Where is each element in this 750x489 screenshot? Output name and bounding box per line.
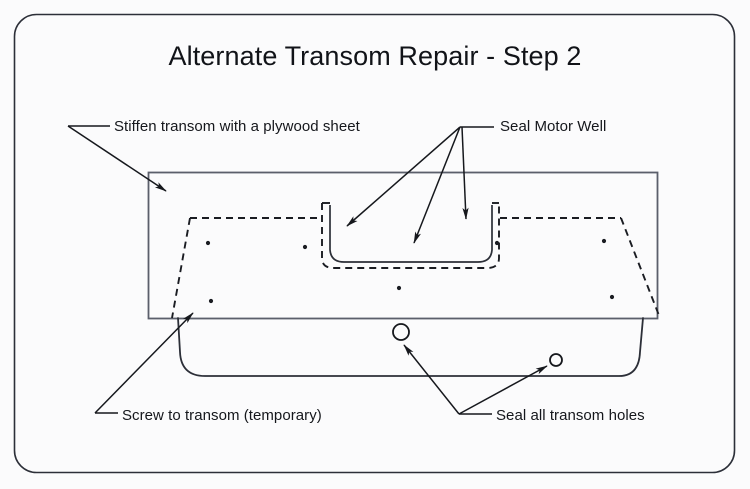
screw-dot (397, 286, 401, 290)
screw-dot (610, 295, 614, 299)
page-title: Alternate Transom Repair - Step 2 (0, 41, 750, 72)
screw-dot (303, 245, 307, 249)
callout-label-holes: Seal all transom holes (496, 407, 645, 424)
screw-dot (602, 239, 606, 243)
screw-dot (209, 299, 213, 303)
callout-label-stiffen: Stiffen transom with a plywood sheet (114, 118, 360, 135)
callout-label-screw: Screw to transom (temporary) (122, 407, 322, 424)
screw-dot (495, 241, 499, 245)
diagram-page: Alternate Transom Repair - Step 2 Stiffe… (0, 0, 750, 489)
screw-dot (206, 241, 210, 245)
callout-label-motor-well: Seal Motor Well (500, 118, 606, 135)
